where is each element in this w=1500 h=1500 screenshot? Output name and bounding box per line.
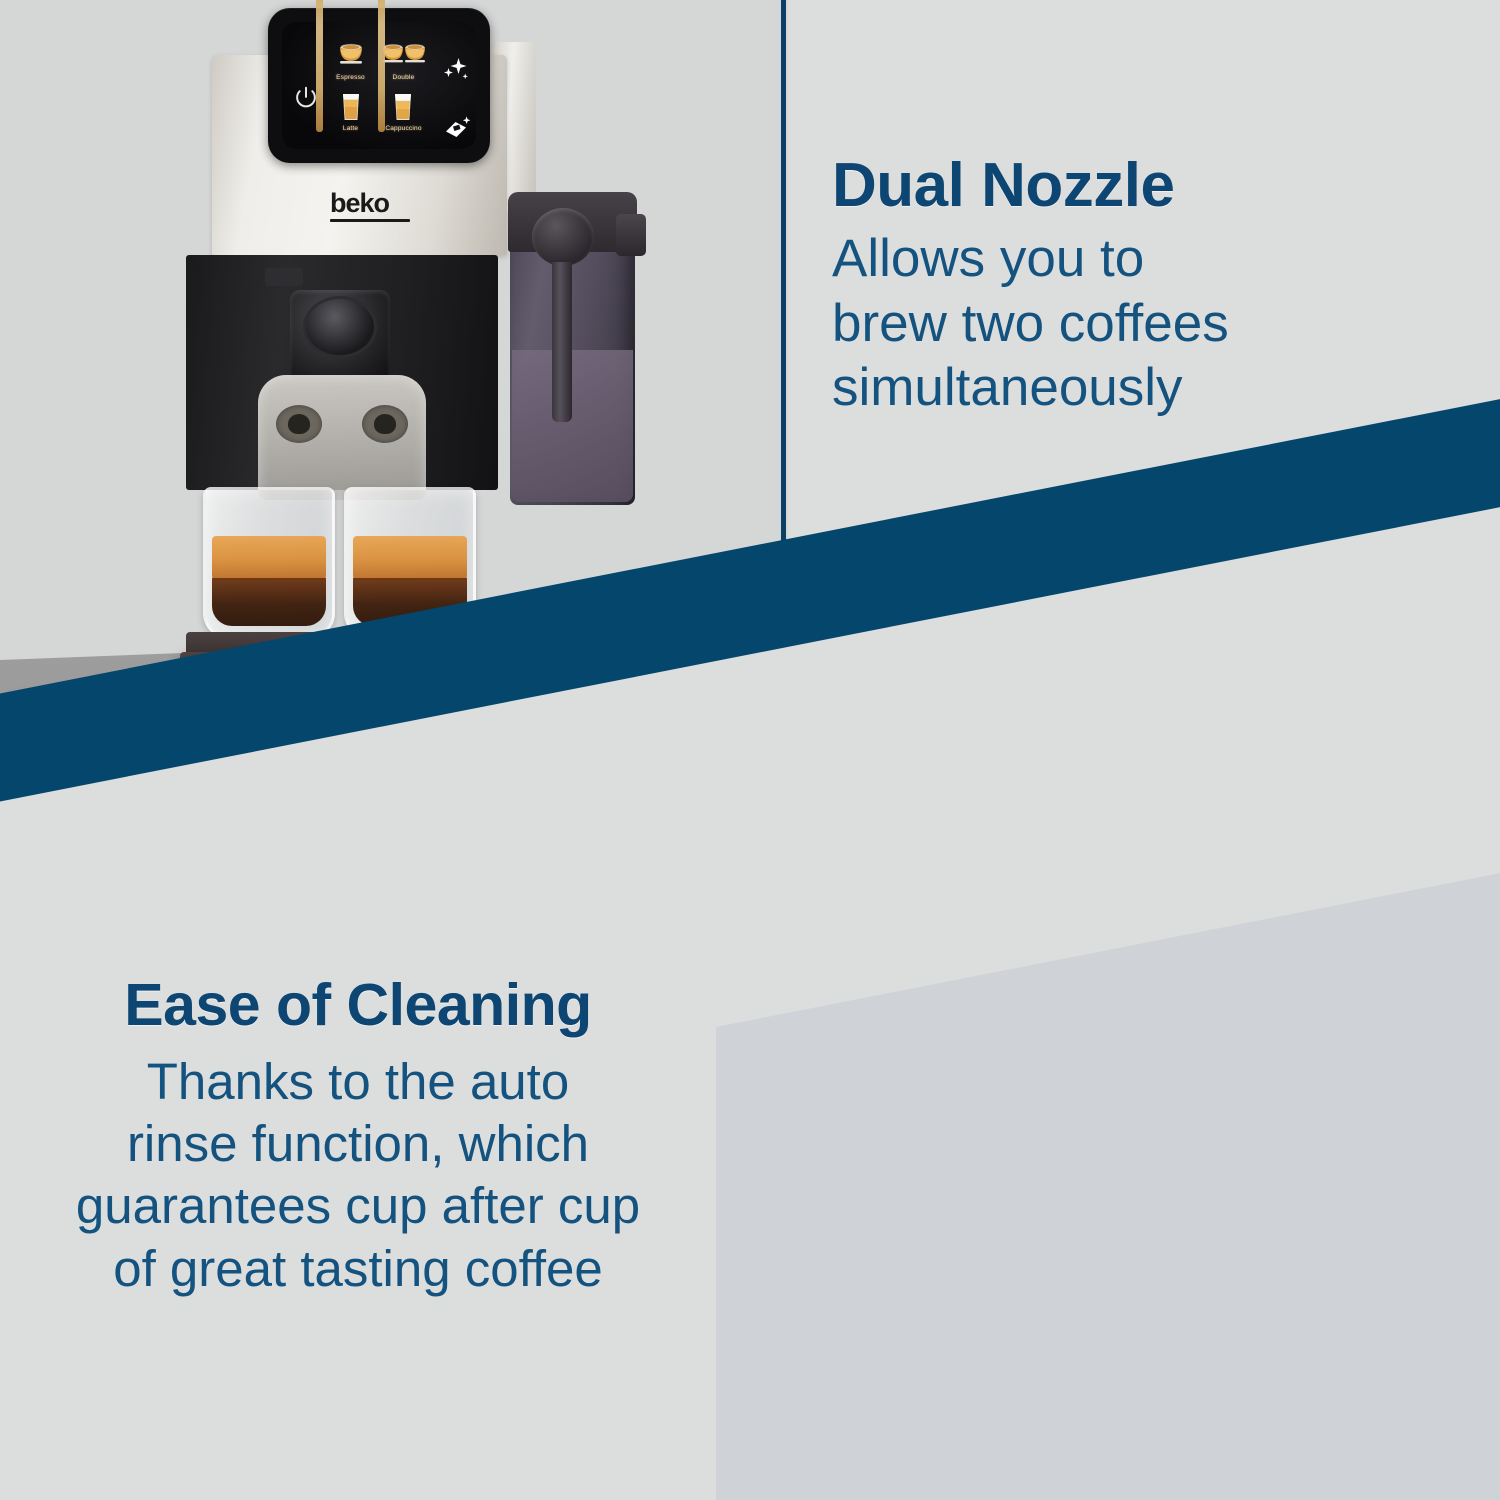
cappuccino-glass-icon (388, 91, 418, 123)
milk-level (512, 350, 633, 502)
dual-nozzle-body-line: Allows you to (832, 227, 1488, 292)
nozzle-keyhole-left (276, 405, 322, 443)
ease-of-cleaning-body-line: Thanks to the auto (14, 1051, 702, 1113)
dual-nozzle-body-line: simultaneously (832, 356, 1488, 421)
drink-label-latte: Latte (336, 125, 366, 132)
drink-label-espresso: Espresso (334, 74, 368, 81)
ease-of-cleaning-body: Thanks to the auto rinse function, which… (14, 1051, 702, 1300)
ease-of-cleaning-title: Ease of Cleaning (14, 975, 702, 1037)
ease-of-cleaning-body-line: rinse function, which (14, 1113, 702, 1175)
espresso-layer (212, 578, 326, 626)
feature-text-ease-of-cleaning: Ease of Cleaning Thanks to the auto rins… (0, 975, 716, 1300)
dual-nozzle-body: Allows you to brew two coffees simultane… (832, 227, 1488, 421)
crema-layer (353, 536, 467, 580)
feature-text-dual-nozzle: Dual Nozzle Allows you to brew two coffe… (788, 155, 1488, 421)
coffee-stream-left (316, 0, 323, 132)
latte-glass-icon (336, 91, 366, 123)
descale-rinse-icon[interactable] (442, 114, 472, 147)
double-espresso-cup-icon (381, 42, 427, 72)
milk-frother-knob[interactable] (532, 208, 594, 266)
drink-button-espresso[interactable]: Espresso (334, 42, 368, 81)
milk-tank-side-knob[interactable] (616, 214, 646, 256)
lock-indicator (265, 268, 303, 286)
drink-button-cappuccino[interactable]: Cappuccino (385, 91, 421, 132)
brew-group-ring (303, 296, 377, 358)
coffee-stream-right (378, 0, 385, 132)
beko-logo: beko (330, 190, 410, 222)
drink-button-grid: Espresso (324, 36, 430, 137)
sparkle-clean-icon[interactable] (440, 56, 470, 89)
espresso-cup-icon (334, 42, 368, 72)
drink-label-double: Double (381, 74, 427, 81)
ease-of-cleaning-body-line: guarantees cup after cup (14, 1175, 702, 1237)
nozzle-keyhole-right (362, 405, 408, 443)
feature-collage: beko (0, 0, 1500, 1500)
drink-button-double[interactable]: Double (381, 42, 427, 81)
crema-layer (212, 536, 326, 580)
dual-nozzle-dispenser (258, 375, 426, 500)
drink-label-cappuccino: Cappuccino (385, 125, 421, 132)
beko-wordmark: beko (330, 190, 410, 217)
glass-cup-left (203, 487, 335, 639)
drink-button-latte[interactable]: Latte (336, 91, 366, 132)
ease-of-cleaning-body-line: of great tasting coffee (14, 1238, 702, 1300)
milk-spout (552, 262, 572, 422)
beko-underline (330, 219, 410, 222)
dual-nozzle-title: Dual Nozzle (832, 155, 1488, 217)
dual-nozzle-body-line: brew two coffees (832, 292, 1488, 357)
